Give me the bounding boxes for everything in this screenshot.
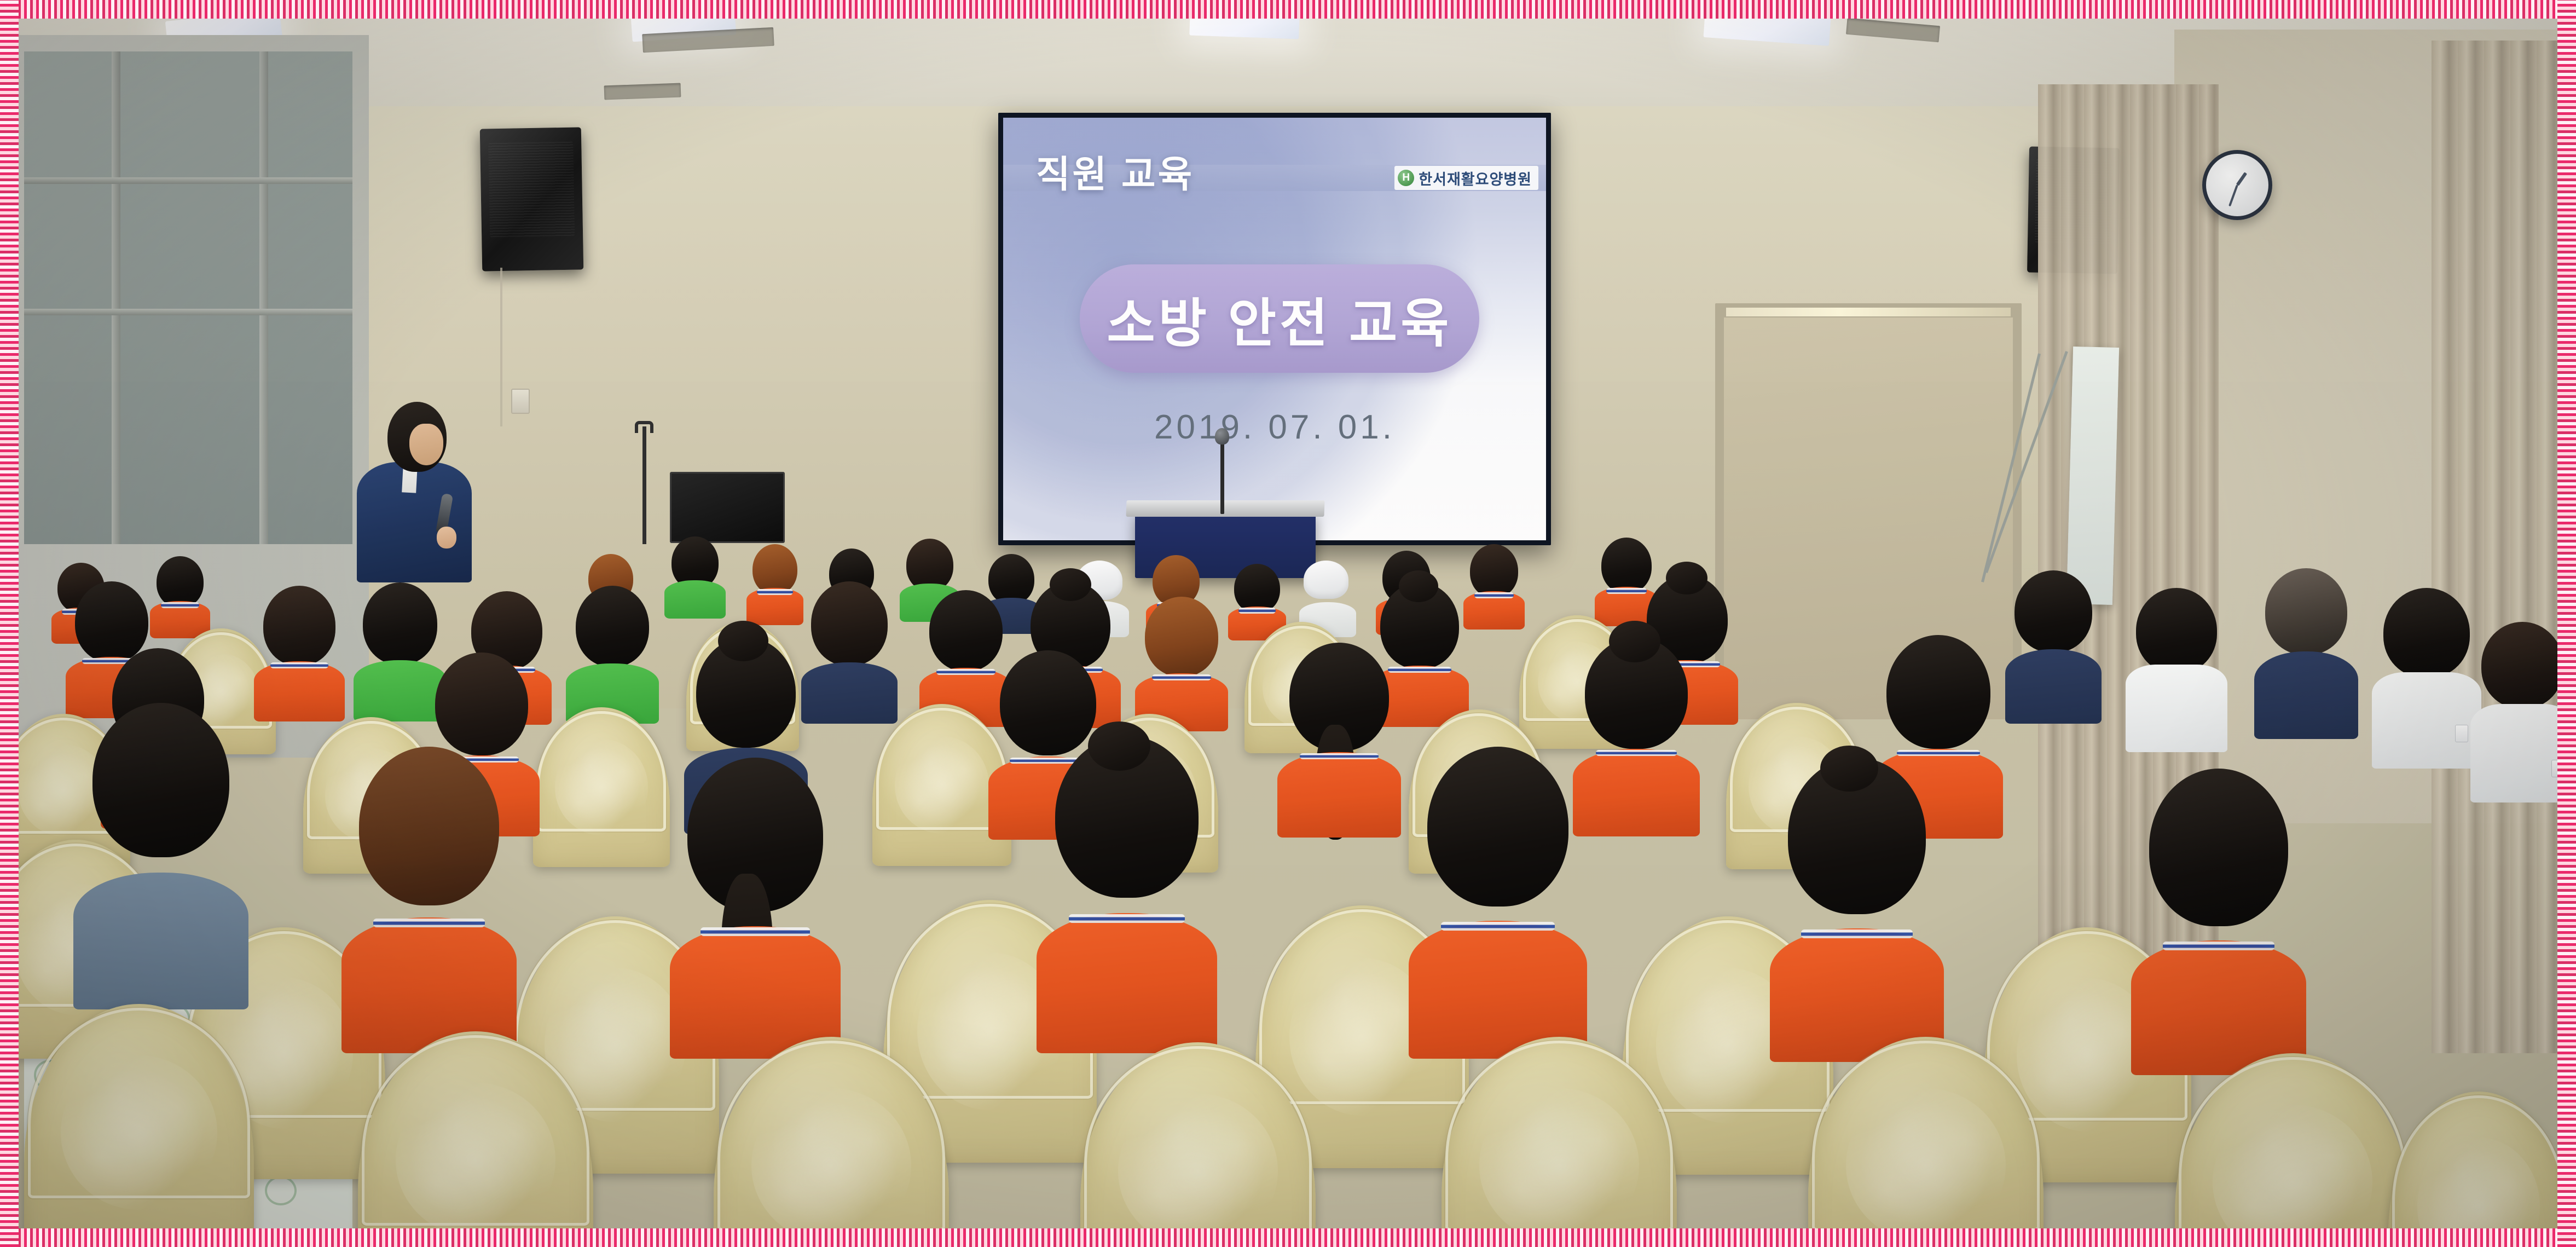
attendee-head bbox=[1145, 597, 1218, 677]
attendee bbox=[2131, 769, 2306, 1075]
attendee-head bbox=[2265, 568, 2347, 655]
ceiling-air-vent bbox=[604, 83, 681, 100]
banquet-chair bbox=[2175, 1053, 2410, 1228]
decorative-frame-bottom bbox=[0, 1228, 2576, 1247]
wall-speaker bbox=[480, 127, 584, 271]
id-badge bbox=[2455, 725, 2468, 742]
attendee-head bbox=[811, 581, 888, 666]
decorative-frame-left bbox=[0, 0, 19, 1247]
attendee bbox=[746, 544, 803, 625]
attendee bbox=[1409, 747, 1587, 1059]
banquet-chair bbox=[2388, 1092, 2557, 1228]
staff-attendee bbox=[2470, 622, 2557, 803]
attendee-head bbox=[359, 747, 499, 905]
attendee bbox=[73, 703, 248, 1009]
attendee-head bbox=[2149, 769, 2288, 926]
attendee-uniform bbox=[1573, 749, 1700, 836]
attendee-lab-coat bbox=[2470, 704, 2557, 803]
attendee bbox=[341, 747, 517, 1053]
attendee bbox=[664, 536, 726, 619]
attendee-head bbox=[576, 586, 649, 667]
attendee bbox=[1573, 637, 1700, 836]
banquet-chair bbox=[533, 707, 670, 867]
attendee bbox=[150, 556, 210, 638]
attendee-uniform bbox=[150, 601, 210, 638]
hospital-logo-text: 한서재활요양병원 bbox=[1419, 168, 1532, 189]
speaker-cable bbox=[500, 268, 502, 426]
attendee bbox=[670, 758, 841, 1059]
attendee-head bbox=[1427, 747, 1568, 907]
attendee-head bbox=[157, 556, 204, 608]
wall-clock bbox=[2202, 150, 2272, 220]
attendee bbox=[254, 586, 345, 721]
attendee bbox=[1463, 544, 1525, 630]
attendee-hair-bun bbox=[718, 621, 768, 661]
attendee-uniform bbox=[1277, 752, 1401, 838]
room-scene: 직원 교육 H 한서재활요양병원 소방 안전 교육 2019. 07. 01. bbox=[19, 19, 2557, 1228]
slide-header-title: 직원 교육 bbox=[1036, 144, 1194, 198]
door-lintel bbox=[1726, 308, 2011, 316]
attendee-lab-coat bbox=[2372, 672, 2481, 769]
slide-title-pill: 소방 안전 교육 bbox=[1080, 264, 1479, 373]
staff-attendee bbox=[2005, 570, 2102, 724]
attendee bbox=[1770, 758, 1944, 1062]
id-badge bbox=[2551, 760, 2557, 777]
attendee-uniform bbox=[1463, 591, 1525, 630]
staff-attendee bbox=[2126, 588, 2227, 752]
decorative-frame-right bbox=[2557, 0, 2576, 1247]
attendee-hair-bun bbox=[1820, 746, 1878, 792]
hospital-logo-icon: H bbox=[1398, 170, 1414, 186]
attendee-hair-bun bbox=[1609, 621, 1660, 662]
attendee-scrubs bbox=[2254, 651, 2358, 739]
attendee-hair-bun bbox=[1088, 721, 1150, 771]
attendee-head bbox=[435, 653, 528, 755]
staff-attendee bbox=[2254, 568, 2358, 739]
attendee-uniform bbox=[746, 588, 803, 625]
staff-attendee bbox=[2372, 588, 2481, 769]
attendee-head bbox=[752, 544, 797, 594]
attendee-hair-bun bbox=[1666, 562, 1707, 594]
attendee bbox=[1277, 643, 1401, 838]
attendee-hair-bun bbox=[1050, 568, 1091, 601]
attendee bbox=[1037, 736, 1217, 1053]
clock-hour-hand bbox=[2236, 172, 2248, 186]
partition-rail bbox=[24, 177, 352, 184]
attendee-head bbox=[92, 703, 229, 857]
attendee bbox=[801, 581, 898, 724]
attendee-uniform bbox=[254, 661, 345, 721]
attendee-head bbox=[2481, 622, 2557, 708]
attendee-head bbox=[2383, 588, 2470, 678]
clock-minute-hand bbox=[2228, 184, 2238, 206]
attendee-head bbox=[1234, 564, 1280, 613]
attendee-work-shirt bbox=[73, 873, 248, 1009]
attendee-head bbox=[263, 586, 335, 666]
hospital-logo: H 한서재활요양병원 bbox=[1394, 166, 1538, 190]
attendee-uniform bbox=[801, 662, 898, 724]
attendee-uniform bbox=[664, 580, 726, 619]
audience bbox=[19, 407, 2557, 1228]
attendee-head bbox=[2015, 570, 2092, 653]
slide-main-title: 소방 안전 교육 bbox=[1107, 281, 1452, 357]
photograph: 직원 교육 H 한서재활요양병원 소방 안전 교육 2019. 07. 01. bbox=[0, 0, 2576, 1247]
decorative-frame-top bbox=[0, 0, 2576, 19]
attendee-lab-coat bbox=[2126, 665, 2227, 752]
attendee-cap bbox=[1304, 561, 1348, 599]
attendee-head bbox=[2136, 588, 2217, 673]
attendee bbox=[1135, 597, 1228, 731]
partition-rail bbox=[24, 309, 352, 315]
attendee bbox=[566, 586, 659, 724]
attendee-hair-bun bbox=[1399, 570, 1438, 602]
attendee-uniform bbox=[1037, 913, 1217, 1053]
attendee-head bbox=[1470, 544, 1518, 598]
attendee-head bbox=[1886, 635, 1990, 749]
attendee-scrubs bbox=[2005, 649, 2102, 724]
